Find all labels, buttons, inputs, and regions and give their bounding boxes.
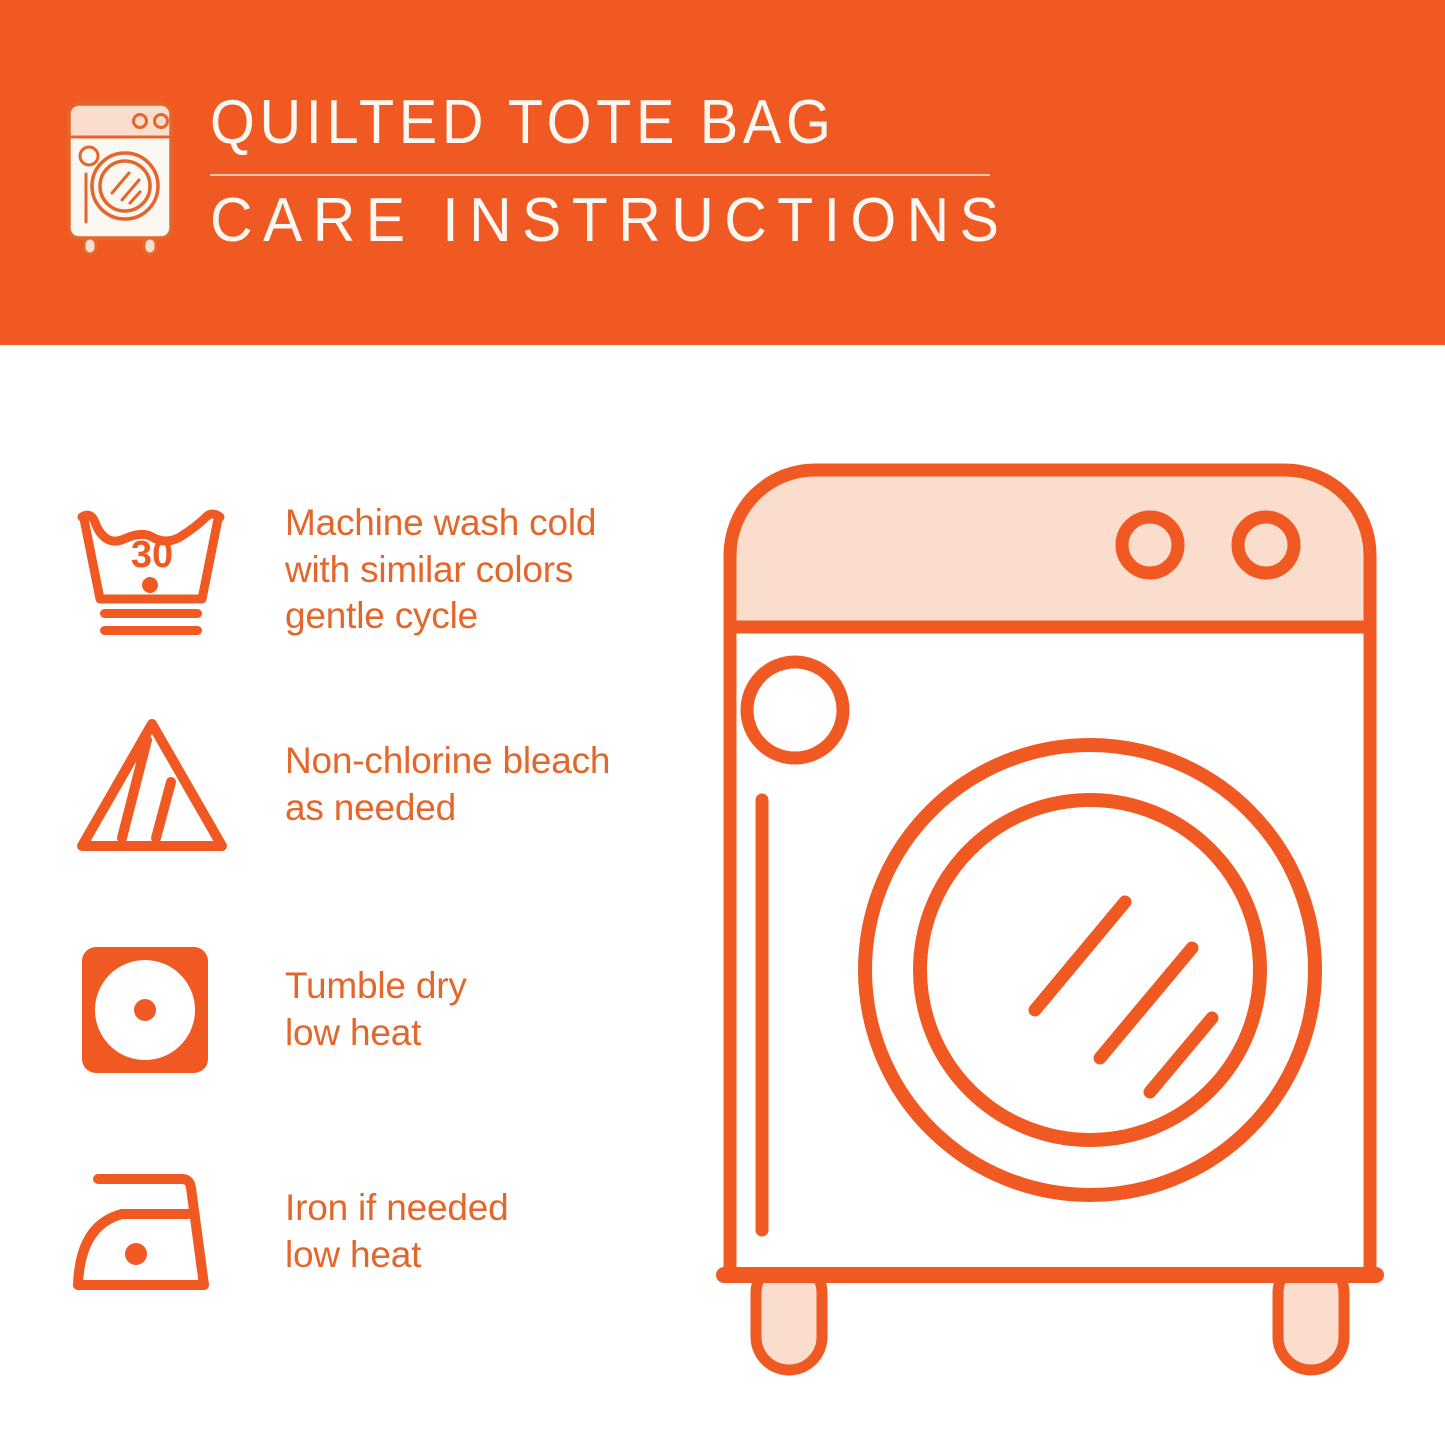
care-line: with similar colors xyxy=(285,547,596,594)
care-instruction-list: 30 Machine wash cold with similar colors… xyxy=(0,345,700,1445)
wash-tub-30-gentle-symbol: 30 xyxy=(70,495,235,645)
care-line: low heat xyxy=(285,1010,467,1057)
care-line: Non-chlorine bleach xyxy=(285,738,610,785)
control-panel xyxy=(730,470,1370,627)
care-row-iron: Iron if needed low heat xyxy=(70,1157,680,1307)
care-row-tumble-dry: Tumble dry low heat xyxy=(70,935,680,1085)
care-line: gentle cycle xyxy=(285,593,596,640)
care-line: low heat xyxy=(285,1232,508,1279)
care-row-bleach: Non-chlorine bleach as needed xyxy=(70,710,680,860)
page-title: QUILTED TOTE BAG xyxy=(210,92,993,154)
tumble-dry-low-symbol xyxy=(70,935,235,1085)
care-text-iron: Iron if needed low heat xyxy=(285,1185,508,1278)
care-line: Iron if needed xyxy=(285,1185,508,1232)
wash-temperature-label: 30 xyxy=(131,534,173,576)
washing-machine-icon xyxy=(60,98,180,258)
non-chlorine-bleach-triangle-symbol xyxy=(70,710,235,860)
header-banner: QUILTED TOTE BAG CARE INSTRUCTIONS xyxy=(0,0,1445,345)
title-divider xyxy=(210,174,990,176)
iron-low-heat-symbol xyxy=(70,1157,235,1307)
care-line: as needed xyxy=(285,785,610,832)
care-text-machine-wash: Machine wash cold with similar colors ge… xyxy=(285,500,596,640)
header-content: QUILTED TOTE BAG CARE INSTRUCTIONS xyxy=(60,92,1051,258)
header-title-group: QUILTED TOTE BAG CARE INSTRUCTIONS xyxy=(210,92,1051,252)
care-line: Machine wash cold xyxy=(285,500,596,547)
page-subtitle: CARE INSTRUCTIONS xyxy=(210,190,1009,252)
care-row-machine-wash: 30 Machine wash cold with similar colors… xyxy=(70,495,680,645)
care-text-bleach: Non-chlorine bleach as needed xyxy=(285,738,610,831)
front-load-washing-machine-illustration xyxy=(700,440,1445,1400)
care-line: Tumble dry xyxy=(285,963,467,1010)
care-text-tumble-dry: Tumble dry low heat xyxy=(285,963,467,1056)
